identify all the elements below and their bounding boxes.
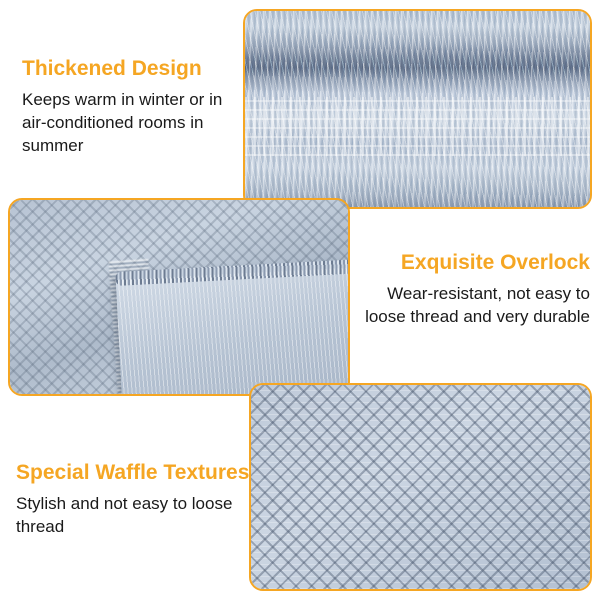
thickened-design-heading: Thickened Design — [22, 56, 237, 82]
special-waffle-textures-description: Stylish and not easy to loose thread — [16, 492, 241, 538]
thickened-design-photo — [243, 9, 592, 209]
exquisite-overlock-description: Wear-resistant, not easy to loose thread… — [356, 282, 590, 328]
fabric-waffle-texture-overlay — [251, 385, 590, 589]
thickened-design-text-block: Thickened Design Keeps warm in winter or… — [22, 56, 237, 157]
exquisite-overlock-heading: Exquisite Overlock — [356, 250, 590, 276]
special-waffle-textures-photo — [249, 383, 592, 591]
exquisite-overlock-photo — [8, 198, 350, 396]
exquisite-overlock-text-block: Exquisite Overlock Wear-resistant, not e… — [356, 250, 590, 328]
fabric-waffle-texture-overlay — [245, 97, 590, 156]
special-waffle-textures-heading: Special Waffle Textures — [16, 460, 241, 486]
fabric-plush-pile-overlay — [116, 264, 350, 396]
thickened-design-description: Keeps warm in winter or in air-condition… — [22, 88, 237, 157]
fabric-folded-flap — [116, 264, 350, 396]
special-waffle-textures-text-block: Special Waffle Textures Stylish and not … — [16, 460, 241, 538]
product-feature-infographic: Thickened Design Keeps warm in winter or… — [0, 0, 600, 600]
